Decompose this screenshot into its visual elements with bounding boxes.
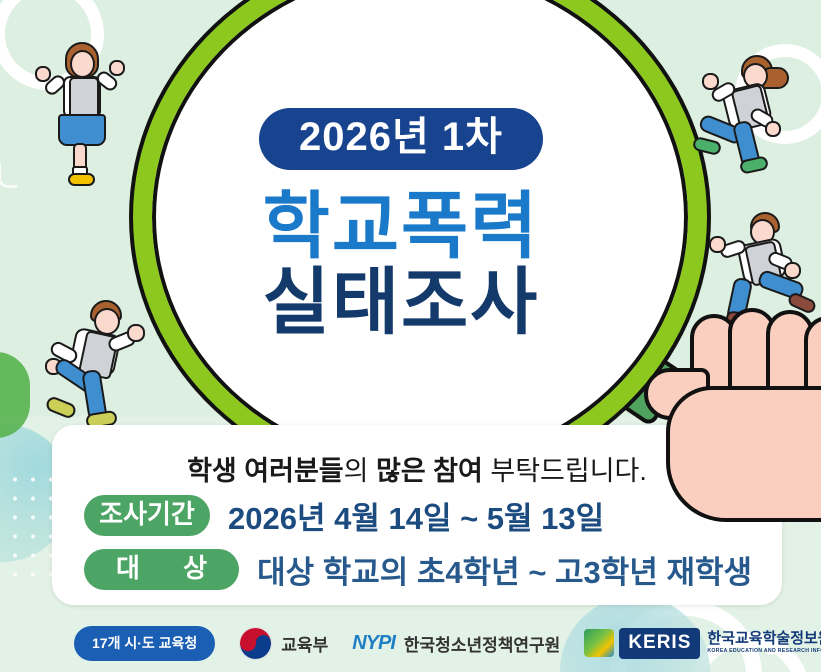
head [70,50,95,78]
appeal-bold-1: 학생 여러분들 [187,456,344,486]
student-girl-top-left [30,42,126,187]
fist-down [765,121,781,137]
poster-canvas: 2026년 1차 학교폭력 실태조사 학생 여러분들의 많은 참여 부탁드립니다… [0,0,821,672]
value-survey-period: 2026년 4월 14일 ~ 5월 13일 [228,493,604,538]
logo-moe: 교육부 [239,627,328,660]
keris-label-en: KOREA EDUCATION AND RESEARCH INFORMATION… [707,649,821,655]
fist-back [709,236,726,253]
title-line-2: 실태조사 [263,266,540,340]
fist-up [702,73,719,90]
headline-group: 2026년 1차 학교폭력 실태조사 [133,0,669,448]
keris-mark-icon [584,629,614,657]
student-girl-top-right [697,55,807,183]
label-target: 대 상 [84,549,239,590]
logo-moe-label: 교육부 [281,631,328,656]
taeguk-icon [239,627,272,660]
decor-tick-left [0,163,17,188]
logo-nypi-label: 한국청소년정책연구원 [404,631,560,656]
fist-left [35,66,51,82]
student-boy-left [28,300,148,432]
value-target: 대상 학교의 초4학년 ~ 고3학년 재학생 [257,547,752,592]
appeal-bold-2: 많은 참여 [376,456,483,486]
keris-wordmark: KERIS [619,628,700,659]
appeal-normal-1: 의 [344,456,376,486]
keris-label-ko: 한국교육학술정보원 [707,631,821,648]
shoe-back [692,136,723,156]
shoe [68,173,95,186]
fist-right [109,60,125,76]
logo-keris: KERIS 한국교육학술정보원 KOREA EDUCATION AND RESE… [584,628,821,659]
title-line-1: 학교폭력 [263,190,540,264]
keris-label-group: 한국교육학술정보원 KOREA EDUCATION AND RESEARCH I… [700,631,821,654]
appeal-normal-2: 부탁드립니다. [483,456,647,486]
fist-front [784,262,801,279]
edition-badge: 2026년 1차 [259,108,543,170]
palm [666,386,821,522]
label-survey-period: 조사기간 [84,495,210,536]
footer-logos: 17개 시·도 교육청 교육부 NYPI 한국청소년정책연구원 KERIS 한국… [0,614,821,672]
nypi-mark-icon: NYPI [352,632,395,655]
info-row-target: 대 상 대상 학교의 초4학년 ~ 고3학년 재학생 [84,547,752,592]
logo-nypi: NYPI 한국청소년정책연구원 [352,631,560,656]
skirt [58,114,106,146]
pill-17-offices: 17개 시·도 교육청 [74,626,215,661]
hand-holding-magnifier [640,300,821,520]
shoe-back [44,395,77,420]
